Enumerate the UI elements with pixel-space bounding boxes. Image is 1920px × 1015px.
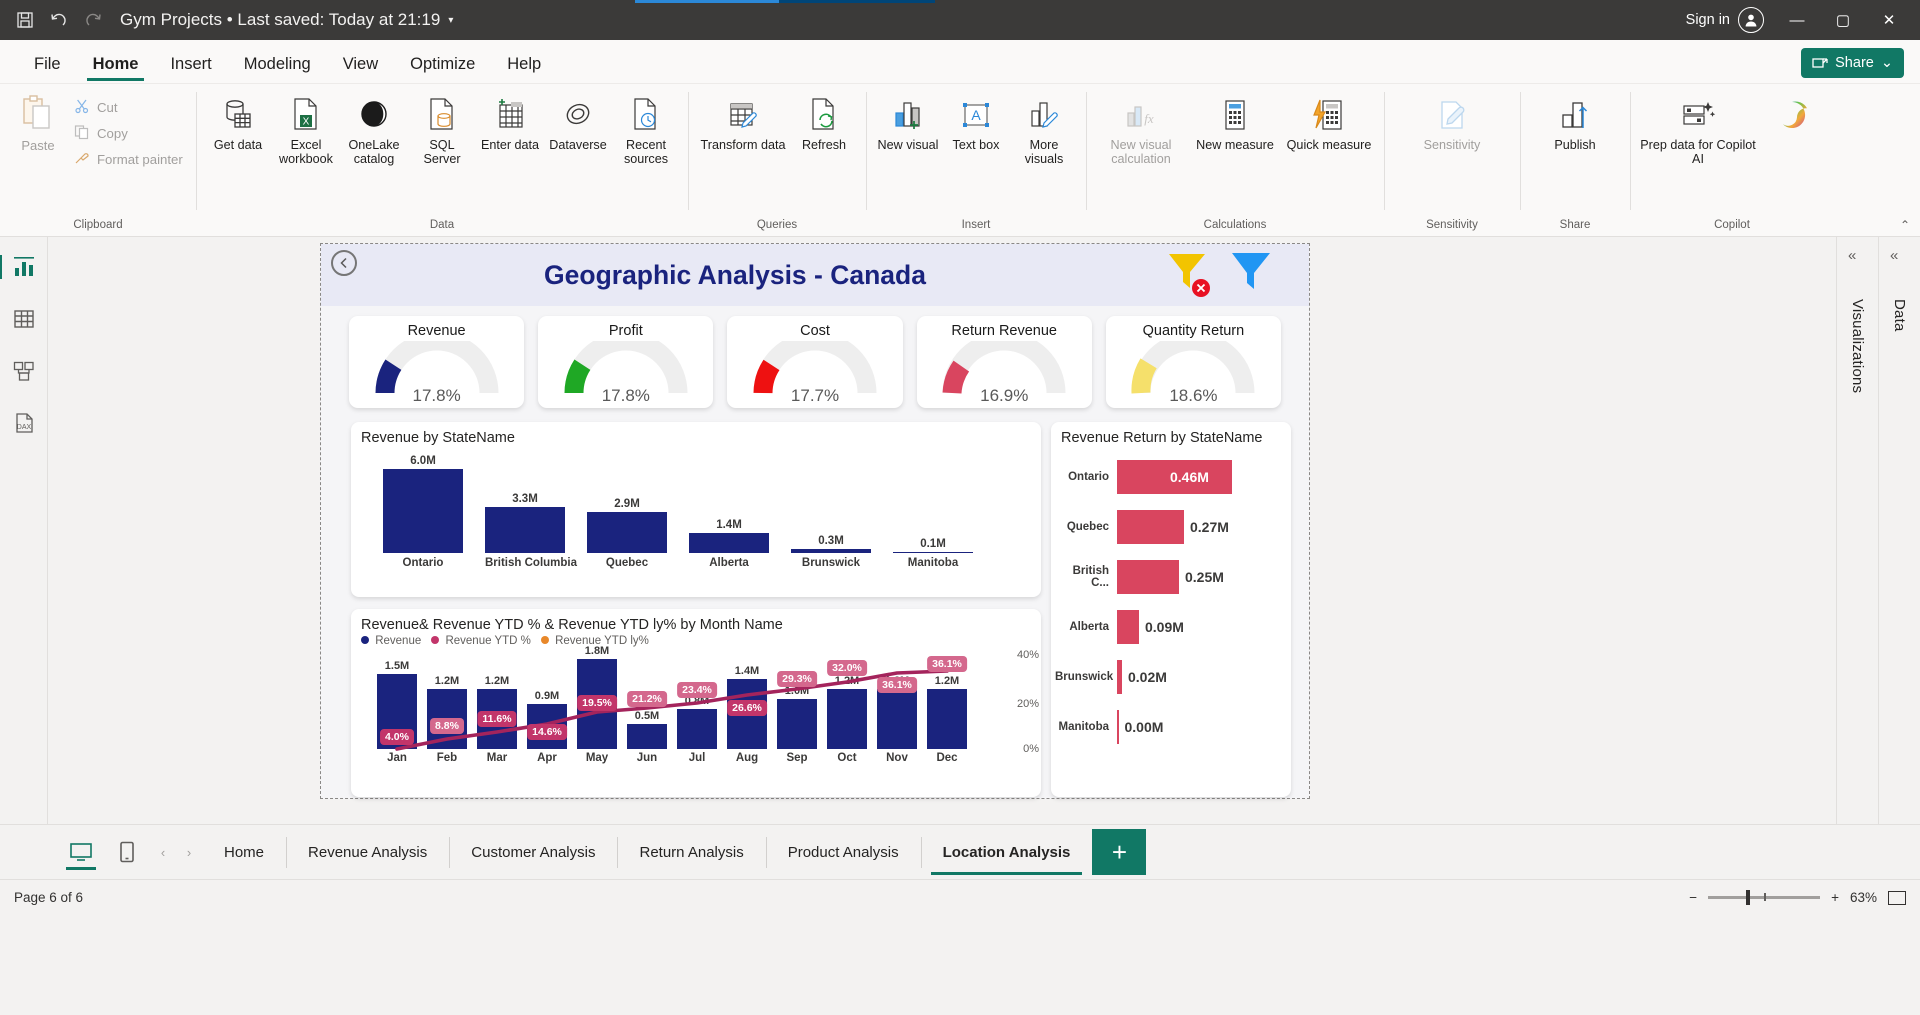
fit-to-page-icon[interactable]	[1888, 891, 1906, 905]
new-visual-calculation-icon: fx	[1124, 95, 1158, 135]
ribbon-group-copilot: Prep data for Copilot AI Copilot	[1630, 84, 1834, 236]
page-tab-product-analysis[interactable]: Product Analysis	[766, 825, 921, 880]
bar-category-label: May	[577, 752, 617, 764]
main-area: DAX Geographic Analysis - Canada	[0, 237, 1920, 824]
bar-category-label: Jul	[677, 752, 717, 764]
visual-title: Revenue by StateName	[351, 422, 1041, 446]
group-label-insert: Insert	[866, 219, 1086, 236]
kpi-card-quantity-return[interactable]: Quantity Return 18.6%	[1106, 316, 1281, 408]
onelake-catalog-button[interactable]: OneLake catalog	[340, 92, 408, 169]
group-label-clipboard: Clipboard	[0, 219, 196, 236]
ribbon-tab-strip: File Home Insert Modeling View Optimize …	[0, 40, 1920, 84]
sensitivity-label: Sensitivity	[1424, 138, 1481, 152]
bar-category-label: Alberta	[1055, 621, 1117, 633]
format-painter-button[interactable]: Format painter	[74, 150, 183, 169]
ribbon-tab-help[interactable]: Help	[491, 49, 557, 83]
kpi-value: 16.9%	[917, 386, 1092, 406]
bar-value-label: 0.02M	[1122, 669, 1167, 685]
chart-legend: Revenue Revenue YTD % Revenue YTD ly%	[351, 633, 1041, 647]
share-button[interactable]: Share ⌄	[1801, 48, 1904, 78]
bar-item[interactable]: 2.9M Quebec	[587, 498, 667, 553]
bar-rect	[677, 709, 717, 749]
kpi-label: Cost	[800, 323, 830, 339]
bar-category-label: Jan	[377, 752, 417, 764]
ribbon: Paste Cut Copy	[0, 84, 1920, 237]
line-value-label: 11.6%	[477, 711, 516, 727]
line-value-label: 4.0%	[380, 729, 414, 745]
prep-data-label: Prep data for Copilot AI	[1640, 138, 1756, 166]
recent-sources-icon	[631, 95, 661, 135]
cut-button[interactable]: Cut	[74, 98, 183, 117]
cut-label: Cut	[97, 100, 118, 115]
more-visuals-label: More visuals	[1012, 138, 1076, 166]
dataverse-button[interactable]: Dataverse	[544, 92, 612, 155]
transform-data-button[interactable]: Transform data	[696, 92, 790, 155]
bar-rect	[791, 549, 871, 553]
enter-data-button[interactable]: Enter data	[476, 92, 544, 155]
collapse-ribbon-icon[interactable]: ⌃	[1900, 218, 1910, 232]
title-bar: Gym Projects • Last saved: Today at 21:1…	[0, 0, 1920, 40]
ribbon-group-clipboard: Paste Cut Copy	[0, 84, 196, 236]
bar-rect	[689, 533, 769, 553]
window-controls: Sign in — ▢ ✕	[1676, 0, 1912, 40]
bar-rect	[1117, 510, 1184, 544]
legend-label: Revenue YTD %	[445, 635, 530, 647]
bar-value-label: 1.2M	[427, 675, 467, 687]
bar-item[interactable]: Manitoba 0.00M	[1055, 702, 1283, 752]
prev-page-button[interactable]: ‹	[150, 845, 176, 860]
view-switcher-rail: DAX	[0, 237, 48, 824]
legend-label: Revenue	[375, 635, 421, 647]
bar-value-label: 0.09M	[1139, 619, 1184, 635]
zoom-slider-handle[interactable]	[1746, 890, 1750, 905]
recent-sources-button[interactable]: Recent sources	[612, 92, 680, 169]
line-value-label: 32.0%	[827, 660, 867, 676]
bar-rect	[627, 724, 667, 749]
page-indicator: Page 6 of 6	[14, 890, 83, 905]
bar-value-label: 2.9M	[587, 498, 667, 510]
bar-category-label: Sep	[777, 752, 817, 764]
svg-text:A: A	[971, 107, 981, 123]
bar-value-label: 0.00M	[1119, 719, 1164, 735]
visualizations-pane[interactable]: « Visualizations	[1836, 237, 1878, 824]
kpi-label: Profit	[609, 323, 643, 339]
prep-data-for-copilot-button[interactable]: Prep data for Copilot AI	[1638, 92, 1758, 169]
more-visuals-button[interactable]: More visuals	[1010, 92, 1078, 169]
copilot-button[interactable]	[1758, 92, 1826, 141]
window-accent-stripe	[635, 0, 935, 3]
excel-icon: X	[291, 95, 321, 135]
excel-workbook-label: Excel workbook	[274, 138, 338, 166]
publish-label: Publish	[1554, 138, 1595, 152]
bar-rect	[383, 469, 463, 553]
combo-chart-plot: 40% 20% 0% 1.5MJan 1.2MFeb 1.2MMar 0.9MA…	[373, 651, 1011, 769]
page-tab-location-analysis[interactable]: Location Analysis	[921, 825, 1093, 880]
group-label-data: Data	[196, 219, 688, 236]
ribbon-tab-home[interactable]: Home	[77, 49, 155, 83]
bar-value-label: 0.5M	[627, 710, 667, 722]
chevron-down-icon[interactable]: ▾	[448, 15, 453, 26]
copy-button[interactable]: Copy	[74, 124, 183, 143]
new-measure-label: New measure	[1196, 138, 1274, 152]
bar-rect	[893, 552, 973, 554]
get-data-button[interactable]: Get data	[204, 92, 272, 155]
kpi-label: Quantity Return	[1143, 323, 1245, 339]
bar-value-label: 3.3M	[485, 493, 565, 505]
zoom-level-label: 63%	[1850, 890, 1877, 905]
bar-value-label: 0.27M	[1184, 519, 1229, 535]
bar-value-label: 1.8M	[577, 645, 617, 657]
bar-item[interactable]: 0.8MJul	[677, 709, 717, 749]
new-visual-label: New visual	[878, 138, 939, 152]
new-visual-button[interactable]: New visual	[874, 92, 942, 155]
sql-server-icon	[427, 95, 457, 135]
next-page-button[interactable]: ›	[176, 845, 202, 860]
bar-value-label: 0.1M	[893, 538, 973, 550]
bar-value-label: 0.25M	[1179, 569, 1224, 585]
bar-value-label: 1.4M	[727, 665, 767, 677]
refresh-button[interactable]: Refresh	[790, 92, 858, 155]
text-box-label: Text box	[953, 138, 1000, 152]
bar-chart-plot: 6.0M Ontario 3.3M British Columbia 2.9M …	[373, 450, 1033, 575]
data-pane-label: Data	[1891, 299, 1908, 332]
format-painter-icon	[74, 150, 90, 169]
document-title-area[interactable]: Gym Projects • Last saved: Today at 21:1…	[120, 10, 453, 30]
bar-value-label: 1.5M	[377, 660, 417, 672]
dataverse-label: Dataverse	[549, 138, 606, 152]
ribbon-group-calculations: fx New visual calculation	[1086, 84, 1384, 236]
visual-revenue-ytd-by-month[interactable]: Revenue& Revenue YTD % & Revenue YTD ly%…	[351, 609, 1041, 797]
bar-item[interactable]: 1.2MNov	[877, 689, 917, 749]
refresh-label: Refresh	[802, 138, 846, 152]
y-axis-tick-40: 40%	[1017, 649, 1039, 661]
page-tab-customer-analysis[interactable]: Customer Analysis	[449, 825, 617, 880]
bar-item[interactable]: Brunswick 0.02M	[1055, 652, 1283, 702]
ribbon-group-queries: Transform data Refresh Queries	[688, 84, 866, 236]
line-value-label: 29.3%	[777, 671, 817, 687]
bar-item[interactable]: Quebec 0.27M	[1055, 502, 1283, 552]
kpi-value: 17.7%	[727, 386, 902, 406]
bar-item[interactable]: 0.5MJun	[627, 724, 667, 749]
publish-icon	[1558, 95, 1592, 135]
paste-label: Paste	[21, 138, 54, 153]
bar-category-label: Ontario	[1055, 471, 1117, 483]
get-data-label: Get data	[214, 138, 262, 152]
copy-icon	[74, 124, 90, 143]
share-label: Share	[1835, 55, 1874, 71]
legend-item-revenue[interactable]: Revenue	[361, 635, 421, 647]
svg-text:fx: fx	[1144, 111, 1154, 126]
scissors-icon	[74, 98, 90, 117]
undo-icon[interactable]	[42, 5, 76, 35]
text-box-icon: A	[959, 95, 993, 135]
group-label-calculations: Calculations	[1086, 219, 1384, 236]
more-visuals-icon	[1027, 95, 1061, 135]
table-view-icon[interactable]	[8, 303, 40, 335]
kpi-card-revenue[interactable]: Revenue 17.8%	[349, 316, 524, 408]
onelake-icon	[357, 95, 391, 135]
status-bar: Page 6 of 6 − + 63%	[0, 879, 1920, 915]
desktop-view-icon[interactable]	[58, 832, 104, 872]
report-header: Geographic Analysis - Canada	[321, 244, 1309, 306]
kpi-card-return-revenue[interactable]: Return Revenue 16.9%	[917, 316, 1092, 408]
kpi-value: 17.8%	[349, 386, 524, 406]
bar-item[interactable]: 1.0MSep	[777, 699, 817, 749]
zoom-controls: − + 63%	[1689, 890, 1906, 905]
kpi-label: Revenue	[408, 323, 466, 339]
dataverse-icon	[561, 95, 595, 135]
bar-category-label: British C...	[1055, 565, 1117, 589]
minimize-button[interactable]: —	[1774, 0, 1820, 40]
quick-measure-label: Quick measure	[1287, 138, 1372, 152]
bar-category-label: Apr	[527, 752, 567, 764]
zoom-slider-midpoint	[1764, 893, 1766, 901]
new-visual-calculation-button[interactable]: fx New visual calculation	[1094, 92, 1188, 169]
clear-filter-icon[interactable]	[1163, 248, 1209, 297]
text-box-button[interactable]: A Text box	[942, 92, 1010, 155]
bar-value-label: 1.4M	[689, 519, 769, 531]
report-view-icon[interactable]	[8, 251, 40, 283]
expand-data-icon[interactable]: «	[1890, 247, 1898, 264]
document-title: Gym Projects • Last saved: Today at 21:1…	[120, 10, 440, 30]
group-label-sensitivity: Sensitivity	[1384, 219, 1520, 236]
page-tab-bar: ‹ › Home Revenue Analysis Customer Analy…	[0, 824, 1920, 879]
ribbon-group-data: Get data X Excel workbook	[196, 84, 688, 236]
bar-value-label: 0.9M	[527, 690, 567, 702]
ribbon-tab-view[interactable]: View	[327, 49, 394, 83]
group-label-copilot: Copilot	[1630, 219, 1834, 236]
maximize-button[interactable]: ▢	[1820, 0, 1866, 40]
line-value-label: 8.8%	[430, 718, 464, 734]
enter-data-label: Enter data	[481, 138, 539, 152]
bar-category-label: Jun	[627, 752, 667, 764]
bar-category-label: Ontario	[383, 557, 463, 569]
kpi-card-row: Revenue 17.8% Profit	[321, 306, 1309, 408]
bar-rect	[927, 689, 967, 749]
bar-category-label: Dec	[927, 752, 967, 764]
visualizations-pane-label: Visualizations	[1849, 299, 1866, 393]
sensitivity-icon	[1434, 95, 1470, 135]
bar-item[interactable]: 1.2MDec	[927, 689, 967, 749]
kpi-label: Return Revenue	[951, 323, 1057, 339]
ribbon-group-sensitivity: Sensitivity Sensitivity	[1384, 84, 1520, 236]
close-button[interactable]: ✕	[1866, 0, 1912, 40]
visual-title: Revenue Return by StateName	[1051, 422, 1291, 446]
transform-data-label: Transform data	[701, 138, 786, 152]
bar-item[interactable]: 6.0M Ontario	[383, 455, 463, 553]
add-page-button[interactable]: +	[1092, 829, 1146, 875]
quick-measure-icon	[1312, 95, 1346, 135]
page-tab-return-analysis[interactable]: Return Analysis	[617, 825, 765, 880]
new-measure-button[interactable]: New measure	[1188, 92, 1282, 155]
copy-label: Copy	[97, 126, 128, 141]
bar-item[interactable]: British C... 0.25M	[1055, 552, 1283, 602]
bar-item[interactable]: 0.3M Brunswick	[791, 535, 871, 553]
bar-item[interactable]: 1.4M Alberta	[689, 519, 769, 553]
bar-rect	[877, 689, 917, 749]
bar-rect	[777, 699, 817, 749]
quick-measure-button[interactable]: Quick measure	[1282, 92, 1376, 155]
redo-icon[interactable]	[76, 5, 110, 35]
bar-rect	[1117, 560, 1179, 594]
bar-rect	[1117, 610, 1139, 644]
bar-value-label: 6.0M	[383, 455, 463, 467]
bar-category-label: Alberta	[689, 557, 769, 569]
transform-data-icon	[726, 95, 760, 135]
zoom-in-button[interactable]: +	[1831, 890, 1839, 905]
legend-swatch-icon	[541, 636, 549, 644]
copilot-icon	[1774, 95, 1810, 135]
sign-in-label: Sign in	[1686, 12, 1730, 28]
report-canvas-area: Geographic Analysis - Canada Revenue	[48, 237, 1836, 824]
back-arrow-icon[interactable]	[331, 250, 357, 276]
recent-sources-label: Recent sources	[614, 138, 678, 166]
ribbon-tab-file[interactable]: File	[18, 49, 77, 83]
filter-icon[interactable]	[1227, 248, 1275, 297]
enter-data-icon	[493, 95, 527, 135]
legend-swatch-icon	[431, 636, 439, 644]
excel-workbook-button[interactable]: X Excel workbook	[272, 92, 340, 169]
bar-value-label: 1.2M	[827, 675, 867, 687]
horizontal-bar-plot: Ontario 0.46M Quebec 0.27M British C... …	[1051, 446, 1291, 752]
bar-item[interactable]: Ontario 0.46M	[1055, 452, 1283, 502]
bar-category-label: British Columbia	[485, 557, 565, 569]
line-value-label: 23.4%	[677, 682, 717, 698]
data-pane[interactable]: « Data	[1878, 237, 1920, 824]
bar-category-label: Manitoba	[893, 557, 973, 569]
model-view-icon[interactable]	[8, 355, 40, 387]
group-label-queries: Queries	[688, 219, 866, 236]
kpi-value: 18.6%	[1106, 386, 1281, 406]
bar-value-label: 1.2M	[477, 675, 517, 687]
bar-category-label: Brunswick	[791, 557, 871, 569]
y-axis-tick-20: 20%	[1017, 698, 1039, 710]
line-value-label: 36.1%	[877, 677, 917, 693]
kpi-value: 17.8%	[538, 386, 713, 406]
filter-icons-group	[1163, 248, 1275, 297]
zoom-out-button[interactable]: −	[1689, 890, 1697, 905]
svg-text:DAX: DAX	[16, 424, 31, 431]
page-title: Geographic Analysis - Canada	[321, 260, 1309, 291]
bar-category-label: Brunswick	[1055, 671, 1117, 683]
page-tab-home[interactable]: Home	[202, 825, 286, 880]
bar-rect	[485, 507, 565, 553]
new-visual-calculation-label: New visual calculation	[1096, 138, 1186, 166]
ribbon-group-share: Publish Share	[1520, 84, 1630, 236]
bar-category-label: Quebec	[587, 557, 667, 569]
line-value-label: 19.5%	[577, 695, 617, 711]
bar-category-label: Quebec	[1055, 521, 1117, 533]
legend-swatch-icon	[361, 636, 369, 644]
bar-category-label: Nov	[877, 752, 917, 764]
bar-value-label: 1.2M	[927, 675, 967, 687]
database-icon	[221, 95, 255, 135]
ribbon-tab-modeling[interactable]: Modeling	[228, 49, 327, 83]
save-icon[interactable]	[8, 5, 42, 35]
legend-item-revenue-ytd-pct[interactable]: Revenue YTD %	[431, 635, 531, 647]
sign-in-button[interactable]: Sign in	[1676, 7, 1774, 33]
y-axis-tick-0: 0%	[1023, 743, 1039, 755]
visual-title: Revenue& Revenue YTD % & Revenue YTD ly%…	[351, 609, 1041, 633]
prep-data-icon	[1680, 95, 1716, 135]
visual-revenue-by-statename[interactable]: Revenue by StateName 6.0M Ontario 3.3M B…	[351, 422, 1041, 597]
bar-category-label: Oct	[827, 752, 867, 764]
line-value-label: 14.6%	[527, 724, 567, 740]
line-value-label: 21.2%	[627, 691, 667, 707]
paste-icon	[21, 94, 55, 135]
bar-value-label: 0.3M	[791, 535, 871, 547]
svg-text:X: X	[303, 117, 310, 128]
format-painter-label: Format painter	[97, 152, 183, 167]
bar-category-label: Manitoba	[1055, 721, 1117, 733]
bar-rect	[587, 512, 667, 553]
report-page[interactable]: Geographic Analysis - Canada Revenue	[320, 243, 1310, 799]
bar-category-label: Aug	[727, 752, 767, 764]
mobile-view-icon[interactable]	[104, 832, 150, 872]
bar-item[interactable]: 0.1M Manitoba	[893, 538, 973, 554]
bar-item[interactable]: Alberta 0.09M	[1055, 602, 1283, 652]
kpi-card-profit[interactable]: Profit 17.8%	[538, 316, 713, 408]
expand-visualizations-icon[interactable]: «	[1848, 247, 1856, 264]
bar-rect	[827, 689, 867, 749]
refresh-icon	[809, 95, 839, 135]
bar-category-label: Feb	[427, 752, 467, 764]
sensitivity-button[interactable]: Sensitivity	[1392, 92, 1512, 155]
ribbon-group-insert: New visual A Text box	[866, 84, 1086, 236]
kpi-card-cost[interactable]: Cost 17.7%	[727, 316, 902, 408]
ribbon-tab-insert[interactable]: Insert	[154, 49, 227, 83]
new-measure-icon	[1221, 95, 1249, 135]
visual-revenue-return-by-statename[interactable]: Revenue Return by StateName Ontario 0.46…	[1051, 422, 1291, 797]
page-tab-revenue-analysis[interactable]: Revenue Analysis	[286, 825, 449, 880]
bar-item[interactable]: 3.3M British Columbia	[485, 493, 565, 553]
bar-item[interactable]: 1.2MOct	[827, 689, 867, 749]
line-value-label: 36.1%	[927, 656, 967, 672]
paste-button[interactable]: Paste	[10, 94, 66, 169]
sql-server-button[interactable]: SQL Server	[408, 92, 476, 169]
right-panes: « Visualizations « Data	[1836, 237, 1920, 824]
sql-server-label: SQL Server	[410, 138, 474, 166]
zoom-slider[interactable]	[1708, 896, 1820, 899]
bar-value-label: 0.46M	[1170, 469, 1209, 485]
chevron-down-icon[interactable]: ⌄	[1881, 55, 1893, 71]
line-value-label: 26.6%	[727, 700, 767, 716]
new-visual-icon	[891, 95, 925, 135]
group-label-share: Share	[1520, 219, 1630, 236]
onelake-catalog-label: OneLake catalog	[342, 138, 406, 166]
dax-query-view-icon[interactable]: DAX	[8, 407, 40, 439]
publish-button[interactable]: Publish	[1528, 92, 1622, 155]
bar-category-label: Mar	[477, 752, 517, 764]
ribbon-tab-optimize[interactable]: Optimize	[394, 49, 491, 83]
account-icon[interactable]	[1738, 7, 1764, 33]
